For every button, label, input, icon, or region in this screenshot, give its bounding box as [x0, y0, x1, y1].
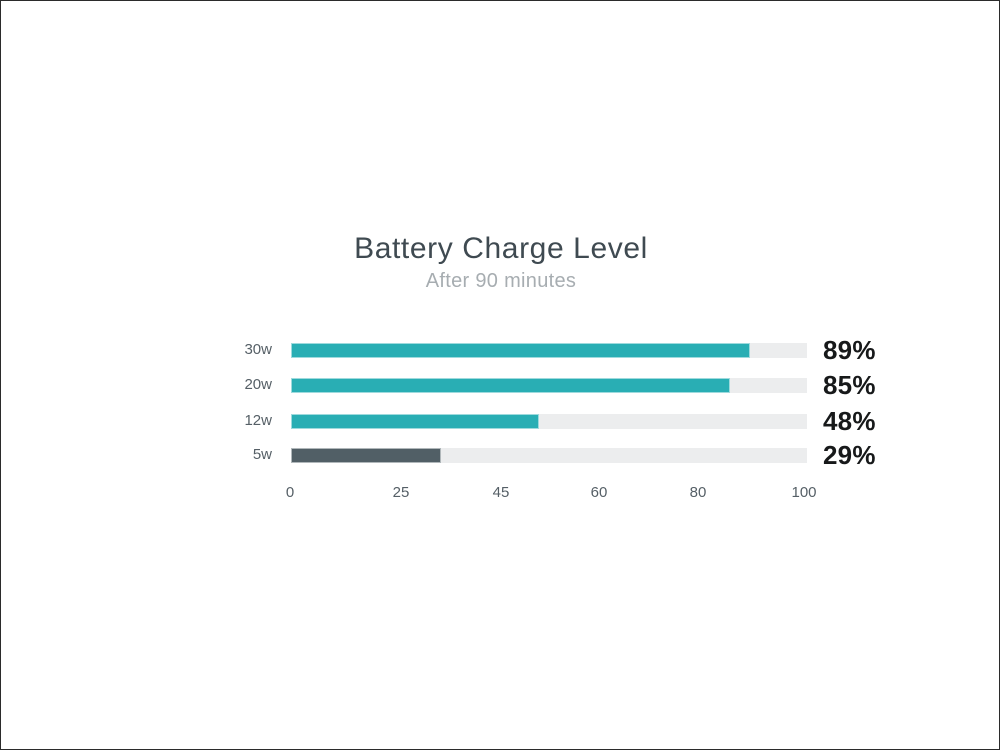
bar-value-label: 29%	[823, 440, 876, 470]
bar-value-label: 89%	[823, 335, 876, 365]
bar-chart-plot: 30w 89% 20w 85% 12w 48% 5w 29%	[1, 1, 1000, 751]
category-label: 30w	[161, 341, 272, 359]
category-label: 20w	[161, 376, 272, 394]
bar-fill[interactable]	[291, 378, 730, 393]
bar-value-label: 48%	[823, 406, 876, 436]
bar-track	[291, 414, 807, 429]
category-label: 5w	[161, 446, 272, 464]
x-tick-label: 80	[690, 483, 707, 503]
bar-row: 20w 85%	[1, 367, 1000, 403]
x-tick-label: 25	[393, 483, 410, 503]
chart-canvas: Battery Charge Level After 90 minutes 30…	[0, 0, 1000, 750]
bar-value-label: 85%	[823, 370, 876, 400]
x-tick-label: 0	[286, 483, 294, 503]
bar-row: 30w 89%	[1, 332, 1000, 368]
category-label: 12w	[161, 412, 272, 430]
x-tick-label: 100	[791, 483, 816, 503]
bar-row: 5w 29%	[1, 437, 1000, 473]
bar-track	[291, 343, 807, 358]
bar-fill[interactable]	[291, 448, 441, 463]
x-axis: 0 25 45 60 80 100	[1, 483, 1000, 507]
bar-track	[291, 378, 807, 393]
bar-track	[291, 448, 807, 463]
bar-fill[interactable]	[291, 414, 539, 429]
bar-row: 12w 48%	[1, 403, 1000, 439]
x-tick-label: 60	[591, 483, 608, 503]
x-tick-label: 45	[493, 483, 510, 503]
bar-fill[interactable]	[291, 343, 750, 358]
